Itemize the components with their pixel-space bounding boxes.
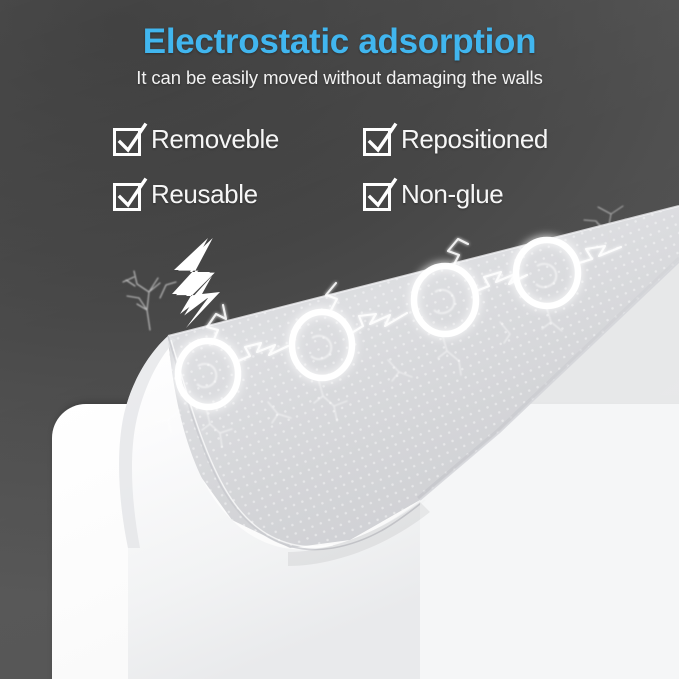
feature-item-reusable: Reusable: [112, 167, 352, 222]
feature-label: Non-glue: [401, 179, 503, 210]
header-block: Electrostatic adsorption It can be easil…: [0, 22, 679, 88]
checkbox-checked-icon: [112, 178, 146, 212]
page-title: Electrostatic adsorption: [0, 22, 679, 61]
product-marketing-image: Electrostatic adsorption It can be easil…: [0, 0, 679, 679]
page-subtitle: It can be easily moved without damaging …: [0, 67, 679, 88]
feature-item-removeble: Removeble: [112, 112, 352, 167]
feature-item-repositioned: Repositioned: [362, 112, 602, 167]
feature-label: Repositioned: [401, 124, 548, 155]
lightning-bolt-icon: [168, 236, 230, 332]
checkbox-checked-icon: [362, 123, 396, 157]
feature-list: Removeble Repositioned Reusable: [112, 112, 612, 222]
static-cling-film: [0, 0, 679, 679]
feature-label: Reusable: [151, 179, 258, 210]
checkbox-checked-icon: [112, 123, 146, 157]
feature-item-non-glue: Non-glue: [362, 167, 602, 222]
feature-label: Removeble: [151, 124, 279, 155]
checkbox-checked-icon: [362, 178, 396, 212]
